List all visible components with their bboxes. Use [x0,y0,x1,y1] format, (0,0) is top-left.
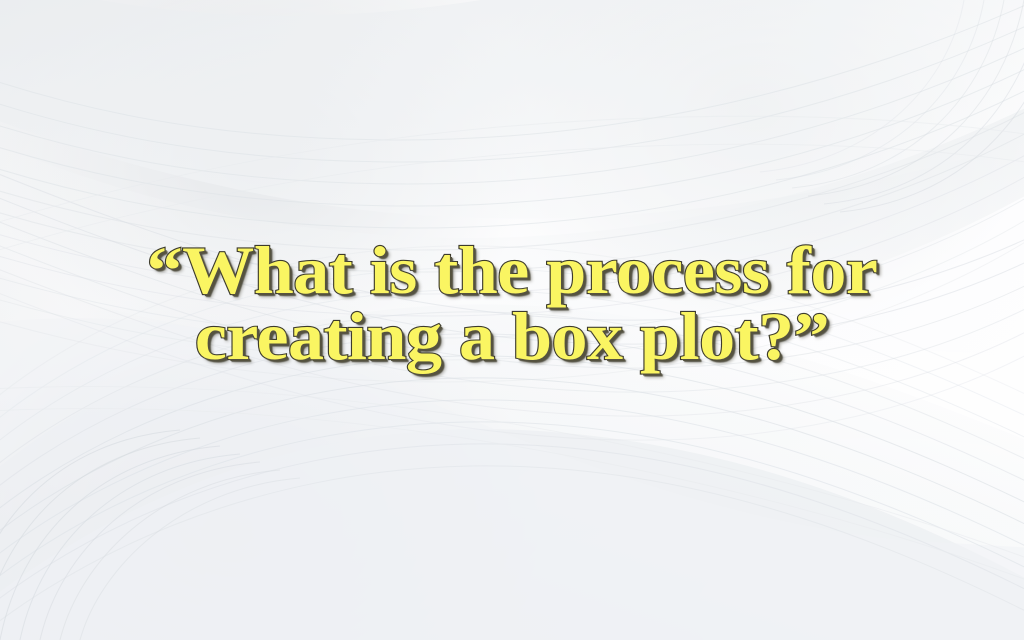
page-title: “What is the process for creating a box … [0,238,1024,370]
headline-block: “What is the process for creating a box … [0,238,1024,370]
headline-line-2: creating a box plot?” [0,304,1024,370]
headline-line-1: “What is the process for [0,238,1024,304]
banner-canvas: “What is the process for creating a box … [0,0,1024,640]
